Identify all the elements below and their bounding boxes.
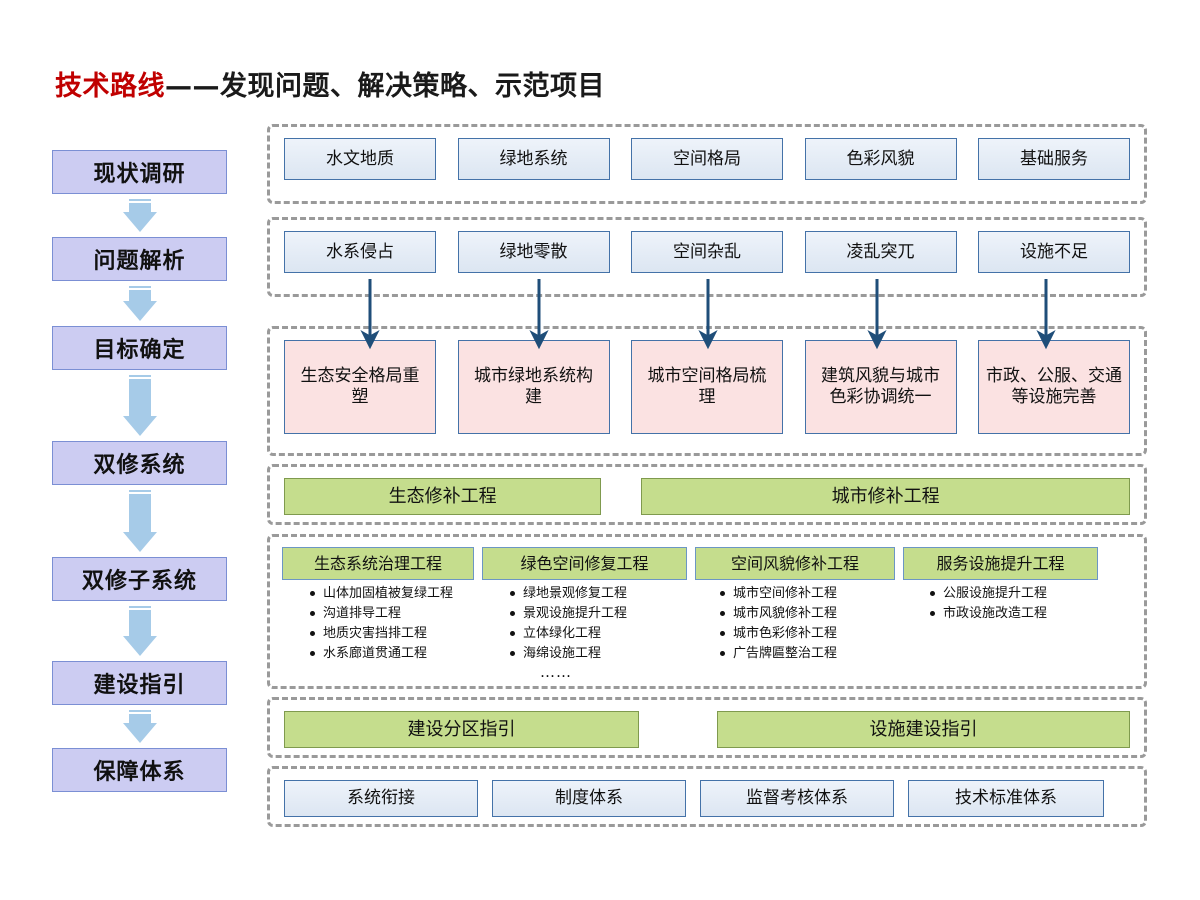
list-item: 立体绿化工程: [510, 627, 694, 640]
safeguard-item-2[interactable]: 监督考核体系: [700, 780, 894, 817]
bullet-dot-icon: [510, 651, 515, 656]
subsystem-ellipsis: ……: [540, 665, 1132, 680]
survey-row: 水文地质 绿地系统 空间格局 色彩风貌 基础服务: [284, 138, 1130, 180]
bullet-text: 城市空间修补工程: [733, 587, 837, 600]
bullet-text: 地质灾害挡排工程: [323, 627, 427, 640]
bullet-dot-icon: [510, 611, 515, 616]
band-system: 生态修补工程 城市修补工程: [267, 464, 1147, 525]
bullet-dot-icon: [720, 591, 725, 596]
goal-row: 生态安全格局重塑 城市绿地系统构建 城市空间格局梳理 建筑风貌与城市色彩协调统一…: [284, 340, 1130, 434]
guide-row: 建设分区指引 设施建设指引: [284, 711, 1130, 748]
list-item: 公服设施提升工程: [930, 587, 1114, 600]
bullet-text: 景观设施提升工程: [523, 607, 627, 620]
stage-box-0[interactable]: 现状调研: [52, 150, 227, 194]
stage-arrow-0: [52, 194, 227, 237]
problem-item-3[interactable]: 凌乱突兀: [805, 231, 957, 273]
list-item: 沟道排导工程: [310, 607, 484, 620]
bullet-dot-icon: [720, 611, 725, 616]
bullet-dot-icon: [930, 591, 935, 596]
bullet-column-1: 绿地景观修复工程 景观设施提升工程 立体绿化工程 海绵设施工程: [492, 587, 694, 667]
bullet-text: 立体绿化工程: [523, 627, 601, 640]
stage-column: 现状调研 问题解析 目标确定 双修系统 双修子系统 建设指引: [52, 150, 227, 792]
list-item: 城市风貌修补工程: [720, 607, 904, 620]
bullet-column-3: 公服设施提升工程 市政设施改造工程: [912, 587, 1114, 667]
bullet-dot-icon: [310, 631, 315, 636]
bullet-text: 沟道排导工程: [323, 607, 401, 620]
subsystem-header-3[interactable]: 服务设施提升工程: [903, 547, 1098, 580]
page-title-rest: ——发现问题、解决策略、示范项目: [165, 71, 605, 102]
bullet-dot-icon: [310, 611, 315, 616]
subsystem-header-2[interactable]: 空间风貌修补工程: [695, 547, 895, 580]
system-item-0[interactable]: 生态修补工程: [284, 478, 601, 515]
stage-arrow-1: [52, 281, 227, 326]
survey-item-4[interactable]: 基础服务: [978, 138, 1130, 180]
subsystem-bullet-columns: 山体加固植被复绿工程 沟道排导工程 地质灾害挡排工程 水系廊道贯通工程 绿地景观…: [282, 587, 1132, 667]
stage-box-6[interactable]: 保障体系: [52, 748, 227, 792]
goal-item-3[interactable]: 建筑风貌与城市色彩协调统一: [805, 340, 957, 434]
bullet-text: 城市风貌修补工程: [733, 607, 837, 620]
band-safeguard: 系统衔接 制度体系 监督考核体系 技术标准体系: [267, 766, 1147, 827]
problem-item-1[interactable]: 绿地零散: [458, 231, 610, 273]
list-item: 地质灾害挡排工程: [310, 627, 484, 640]
problem-item-0[interactable]: 水系侵占: [284, 231, 436, 273]
list-item: 广告牌匾整治工程: [720, 647, 904, 660]
stage-box-2[interactable]: 目标确定: [52, 326, 227, 370]
band-guide: 建设分区指引 设施建设指引: [267, 697, 1147, 758]
bullet-dot-icon: [310, 651, 315, 656]
problem-item-4[interactable]: 设施不足: [978, 231, 1130, 273]
list-item: 景观设施提升工程: [510, 607, 694, 620]
list-item: 城市色彩修补工程: [720, 627, 904, 640]
bullet-dot-icon: [930, 611, 935, 616]
goal-item-0[interactable]: 生态安全格局重塑: [284, 340, 436, 434]
bullet-text: 城市色彩修补工程: [733, 627, 837, 640]
safeguard-item-3[interactable]: 技术标准体系: [908, 780, 1104, 817]
band-goal: 生态安全格局重塑 城市绿地系统构建 城市空间格局梳理 建筑风貌与城市色彩协调统一…: [267, 326, 1147, 456]
bullet-column-2: 城市空间修补工程 城市风貌修补工程 城市色彩修补工程 广告牌匾整治工程: [702, 587, 904, 667]
stage-box-4[interactable]: 双修子系统: [52, 557, 227, 601]
band-survey: 水文地质 绿地系统 空间格局 色彩风貌 基础服务: [267, 124, 1147, 204]
bullet-column-0: 山体加固植被复绿工程 沟道排导工程 地质灾害挡排工程 水系廊道贯通工程: [282, 587, 484, 667]
system-row: 生态修补工程 城市修补工程: [284, 478, 1130, 515]
problem-row: 水系侵占 绿地零散 空间杂乱 凌乱突兀 设施不足: [284, 231, 1130, 273]
band-problem: 水系侵占 绿地零散 空间杂乱 凌乱突兀 设施不足: [267, 217, 1147, 297]
stage-arrow-2: [52, 370, 227, 441]
safeguard-row: 系统衔接 制度体系 监督考核体系 技术标准体系: [284, 780, 1130, 817]
safeguard-item-0[interactable]: 系统衔接: [284, 780, 478, 817]
goal-item-1[interactable]: 城市绿地系统构建: [458, 340, 610, 434]
survey-item-1[interactable]: 绿地系统: [458, 138, 610, 180]
goal-item-2[interactable]: 城市空间格局梳理: [631, 340, 783, 434]
stage-arrow-4: [52, 601, 227, 661]
bullet-dot-icon: [310, 591, 315, 596]
list-item: 海绵设施工程: [510, 647, 694, 660]
survey-item-2[interactable]: 空间格局: [631, 138, 783, 180]
safeguard-item-1[interactable]: 制度体系: [492, 780, 686, 817]
bullet-dot-icon: [720, 651, 725, 656]
subsystem-header-1[interactable]: 绿色空间修复工程: [482, 547, 687, 580]
bullet-text: 水系廊道贯通工程: [323, 647, 427, 660]
page-title-highlight: 技术路线: [55, 71, 165, 102]
list-item: 绿地景观修复工程: [510, 587, 694, 600]
list-item: 山体加固植被复绿工程: [310, 587, 484, 600]
problem-item-2[interactable]: 空间杂乱: [631, 231, 783, 273]
bullet-dot-icon: [510, 591, 515, 596]
stage-box-3[interactable]: 双修系统: [52, 441, 227, 485]
list-item: 城市空间修补工程: [720, 587, 904, 600]
stage-arrow-3: [52, 485, 227, 557]
subsystem-header-0[interactable]: 生态系统治理工程: [282, 547, 474, 580]
bullet-text: 绿地景观修复工程: [523, 587, 627, 600]
survey-item-3[interactable]: 色彩风貌: [805, 138, 957, 180]
page-title: 技术路线——发现问题、解决策略、示范项目: [55, 64, 605, 103]
guide-item-0[interactable]: 建设分区指引: [284, 711, 639, 748]
survey-item-0[interactable]: 水文地质: [284, 138, 436, 180]
bullet-dot-icon: [510, 631, 515, 636]
system-item-1[interactable]: 城市修补工程: [641, 478, 1130, 515]
list-item: 水系廊道贯通工程: [310, 647, 484, 660]
flow-panel: 水文地质 绿地系统 空间格局 色彩风貌 基础服务 水系侵占 绿地零散 空间杂乱 …: [267, 124, 1147, 833]
bullet-dot-icon: [720, 631, 725, 636]
list-item: 市政设施改造工程: [930, 607, 1114, 620]
band-subsystem: 生态系统治理工程 绿色空间修复工程 空间风貌修补工程 服务设施提升工程 山体加固…: [267, 534, 1147, 689]
bullet-text: 公服设施提升工程: [943, 587, 1047, 600]
stage-box-5[interactable]: 建设指引: [52, 661, 227, 705]
bullet-text: 山体加固植被复绿工程: [323, 587, 453, 600]
stage-box-1[interactable]: 问题解析: [52, 237, 227, 281]
bullet-text: 市政设施改造工程: [943, 607, 1047, 620]
stage-arrow-5: [52, 705, 227, 748]
goal-item-4[interactable]: 市政、公服、交通等设施完善: [978, 340, 1130, 434]
bullet-text: 广告牌匾整治工程: [733, 647, 837, 660]
guide-item-1[interactable]: 设施建设指引: [717, 711, 1130, 748]
bullet-text: 海绵设施工程: [523, 647, 601, 660]
subsystem-header-row: 生态系统治理工程 绿色空间修复工程 空间风貌修补工程 服务设施提升工程: [282, 547, 1132, 580]
